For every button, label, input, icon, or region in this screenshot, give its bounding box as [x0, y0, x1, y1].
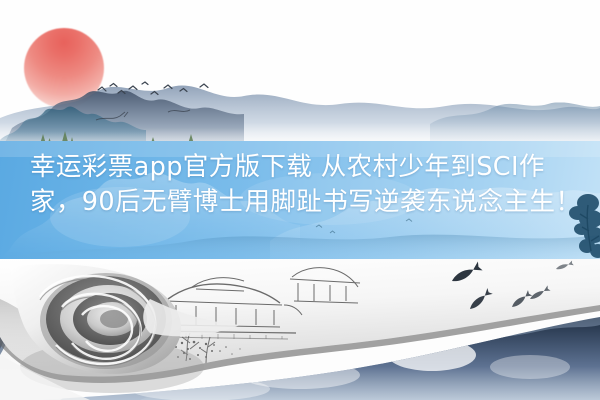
banner-headline-text: 幸运彩票app官方版下载 从农村少年到SCI作家，90后无臂博士用脚趾书写逆袭东…: [0, 141, 600, 259]
article-banner-image: 幸运彩票app官方版下载 从农村少年到SCI作家，90后无臂博士用脚趾书写逆袭东…: [0, 0, 600, 400]
scroll-scene: [0, 259, 600, 400]
ink-wash-mountains: [0, 58, 600, 153]
flying-birds: [96, 76, 226, 104]
headline-banner: 幸运彩票app官方版下载 从农村少年到SCI作家，90后无臂博士用脚趾书写逆袭东…: [0, 141, 600, 259]
